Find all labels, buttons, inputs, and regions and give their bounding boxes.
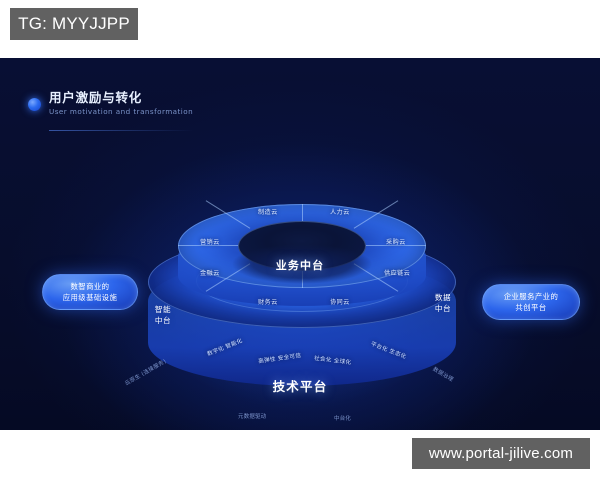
watermark-top-left: TG: MYYJJPP xyxy=(10,8,138,40)
cloud-label-supply-chain: 供应链云 xyxy=(384,268,410,277)
business-platform-label: 业务中台 xyxy=(0,257,600,273)
cloud-label-procurement: 采购云 xyxy=(386,237,406,246)
cloud-label-marketing: 营销云 xyxy=(200,237,220,246)
side-label-data-platform: 数据 中台 xyxy=(420,292,466,314)
tech-platform-label: 技术平台 xyxy=(0,376,600,395)
side-label-intelligent-platform: 智能 中台 xyxy=(140,304,186,326)
callout-pill-right-line2: 共创平台 xyxy=(515,302,546,313)
callout-pill-left-line1: 数智商业的 xyxy=(71,281,110,292)
side-label-intelligent-line1: 智能 xyxy=(155,305,171,314)
callout-pill-right-line1: 企业服务产业的 xyxy=(504,291,559,302)
segment-divider-top xyxy=(302,204,303,221)
watermark-bottom-right: www.portal-jilive.com xyxy=(412,438,590,469)
cloud-label-manufacturing: 制造云 xyxy=(258,207,278,216)
cloud-label-hr: 人力云 xyxy=(330,207,350,216)
side-label-data-line1: 数据 xyxy=(435,293,451,302)
callout-pill-right[interactable]: 企业服务产业的 共创平台 xyxy=(482,284,580,320)
cloud-label-finance: 金融云 xyxy=(200,268,220,277)
platform-architecture-figure: 数字化 智能化 高弹性 安全可信 社会化 全球化 平台化 生态化 技术平台 云原… xyxy=(0,58,600,430)
cloud-label-accounting: 财务云 xyxy=(258,297,278,306)
tech-outer-keyword-3: 中台化 xyxy=(334,414,351,422)
side-label-intelligent-line2: 中台 xyxy=(155,316,171,325)
callout-pill-left-line2: 应用级基础设施 xyxy=(63,292,118,303)
diagram-panel: 用户激励与转化 User motivation and transformati… xyxy=(0,58,600,430)
cloud-label-collaboration: 协同云 xyxy=(330,297,350,306)
side-label-data-line2: 中台 xyxy=(435,304,451,313)
callout-pill-left[interactable]: 数智商业的 应用级基础设施 xyxy=(42,274,138,310)
tech-outer-keyword-2: 元数据驱动 xyxy=(238,412,266,420)
